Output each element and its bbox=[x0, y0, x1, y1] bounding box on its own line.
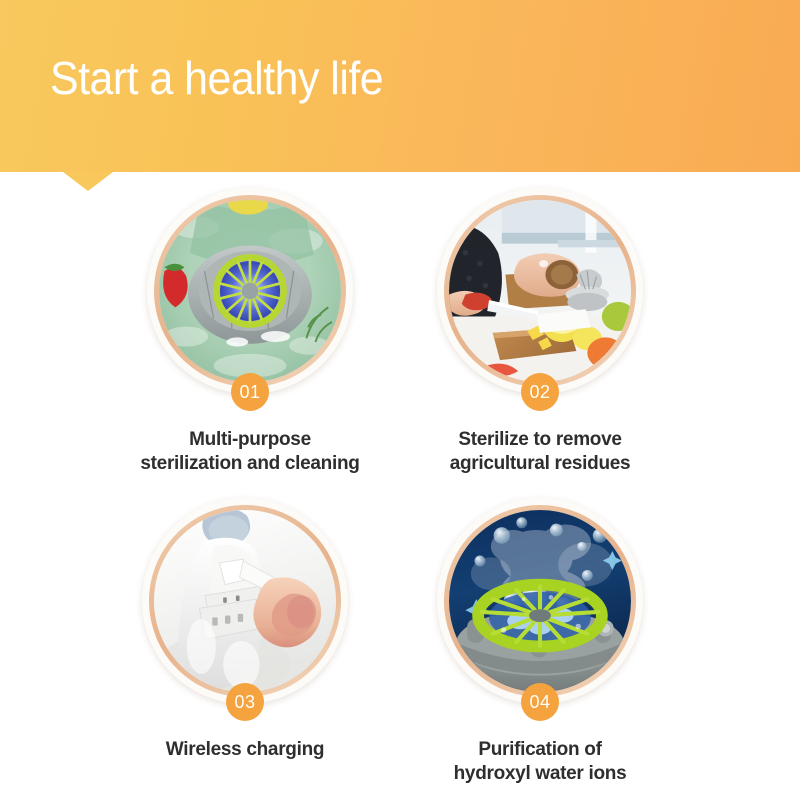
feature-image-circle-03: 03 bbox=[142, 498, 348, 704]
feature-caption-02-line2: agricultural residues bbox=[395, 452, 685, 476]
feature-badge-04: 04 bbox=[521, 683, 559, 721]
feature-caption-02: Sterilize to remove agricultural residue… bbox=[395, 428, 685, 476]
feature-image-circle-01: 01 bbox=[147, 188, 353, 394]
feature-caption-01: Multi-purpose sterilization and cleaning bbox=[105, 428, 395, 476]
feature-image-circle-04: 04 bbox=[437, 498, 643, 704]
feature-card-03[interactable]: 03 Wireless charging bbox=[100, 498, 390, 762]
feature-card-02[interactable]: 02 Sterilize to remove agricultural resi… bbox=[395, 188, 685, 476]
page-title: Start a healthy life bbox=[50, 50, 383, 106]
feature-caption-04-line1: Purification of bbox=[395, 738, 685, 762]
feature-caption-04: Purification of hydroxyl water ions bbox=[395, 738, 685, 786]
photo-purifier-underwater-bubbles bbox=[449, 510, 631, 692]
feature-badge-01: 01 bbox=[231, 373, 269, 411]
feature-badge-03: 03 bbox=[226, 683, 264, 721]
feature-caption-01-line1: Multi-purpose bbox=[105, 428, 395, 452]
feature-caption-04-line2: hydroxyl water ions bbox=[395, 762, 685, 786]
feature-caption-01-line2: sterilization and cleaning bbox=[105, 452, 395, 476]
photo-kitchen-fruit-preparation bbox=[449, 200, 631, 382]
photo-purifier-in-water-basin bbox=[159, 200, 341, 382]
feature-card-01[interactable]: 01 Multi-purpose sterilization and clean… bbox=[105, 188, 395, 476]
photo-wireless-charging-dock bbox=[154, 510, 336, 692]
feature-card-04[interactable]: 04 Purification of hydroxyl water ions bbox=[395, 498, 685, 786]
feature-caption-02-line1: Sterilize to remove bbox=[395, 428, 685, 452]
feature-caption-03: Wireless charging bbox=[100, 738, 390, 762]
feature-badge-02: 02 bbox=[521, 373, 559, 411]
feature-grid: 01 Multi-purpose sterilization and clean… bbox=[0, 180, 800, 800]
feature-image-circle-02: 02 bbox=[437, 188, 643, 394]
feature-caption-03-line1: Wireless charging bbox=[100, 738, 390, 762]
header-banner: Start a healthy life bbox=[0, 0, 800, 172]
